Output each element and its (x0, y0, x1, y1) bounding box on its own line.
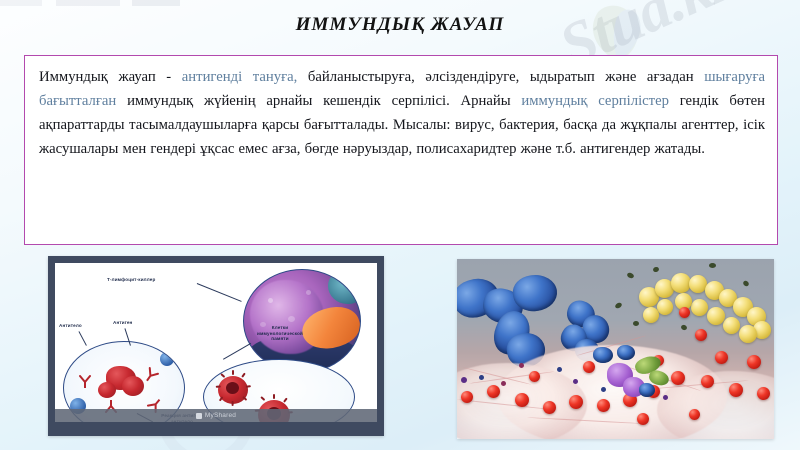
t-killer-cell-illustration (243, 269, 361, 373)
leader-line (197, 283, 242, 302)
content-text-box: Иммундық жауап - антигенді тануға, байла… (24, 55, 778, 245)
red-sphere (583, 361, 595, 373)
diagram-label-antibody: Антитело (59, 323, 82, 329)
red-sphere (757, 387, 770, 400)
receptor-complex (639, 383, 655, 397)
yellow-bead (691, 299, 708, 316)
red-sphere (529, 371, 540, 382)
leader-line (79, 331, 87, 346)
body-text-segment: Иммундық жауап - (39, 69, 182, 85)
yellow-bead (657, 299, 673, 315)
leader-line (223, 343, 251, 360)
body-text-segment: иммундық серпілістер (521, 93, 669, 109)
myshared-logo-icon (196, 413, 202, 419)
antibody-3d-render-canvas (457, 259, 774, 439)
red-sphere (679, 307, 690, 318)
yellow-bead (643, 307, 659, 323)
myshared-label: MyShared (205, 412, 236, 419)
receptor-complex (617, 345, 635, 360)
red-sphere (671, 371, 685, 385)
red-sphere (729, 383, 743, 397)
myshared-watermark-bar: MyShared (55, 409, 377, 422)
immune-response-diagram: Т-лимфоцит-киллер Ан (48, 256, 384, 436)
antibody-y-icon (78, 374, 92, 388)
body-text-segment: байланыстыруға, әлсіздендіруге, ыдыратып… (297, 69, 704, 85)
diagram-label-memory-cells: Клетки иммунологической памяти (249, 325, 311, 342)
body-text-segment: иммундық жүйенің арнайы кешендік серпілі… (116, 93, 521, 109)
antibody-y-icon (141, 365, 160, 384)
red-sphere (461, 391, 473, 403)
page-title: ИММУНДЫҚ ЖАУАП (0, 14, 800, 36)
red-sphere (487, 385, 500, 398)
diagram-label-t-killer: Т-лимфоцит-киллер (107, 277, 155, 283)
yellow-bead (723, 317, 740, 334)
red-sphere (637, 413, 649, 425)
red-sphere (689, 409, 700, 420)
red-sphere (597, 399, 610, 412)
diagram-label-antigen: Антиген (113, 320, 132, 326)
red-sphere (569, 395, 583, 409)
red-sphere (701, 375, 714, 388)
receptor-complex (593, 347, 613, 363)
immune-response-diagram-canvas: Т-лимфоцит-киллер Ан (55, 263, 377, 422)
red-sphere (515, 393, 529, 407)
red-sphere (715, 351, 728, 364)
red-sphere (543, 401, 556, 414)
yellow-bead (739, 325, 757, 343)
yellow-bead (671, 273, 691, 293)
red-sphere (747, 355, 761, 369)
antibody-3d-render (457, 259, 774, 439)
red-sphere (695, 329, 707, 341)
yellow-bead (707, 307, 725, 325)
body-paragraph: Иммундық жауап - антигенді тануға, байла… (39, 66, 765, 162)
body-text-segment: антигенді тануға, (182, 69, 298, 85)
top-ui-artifact (0, 0, 260, 6)
